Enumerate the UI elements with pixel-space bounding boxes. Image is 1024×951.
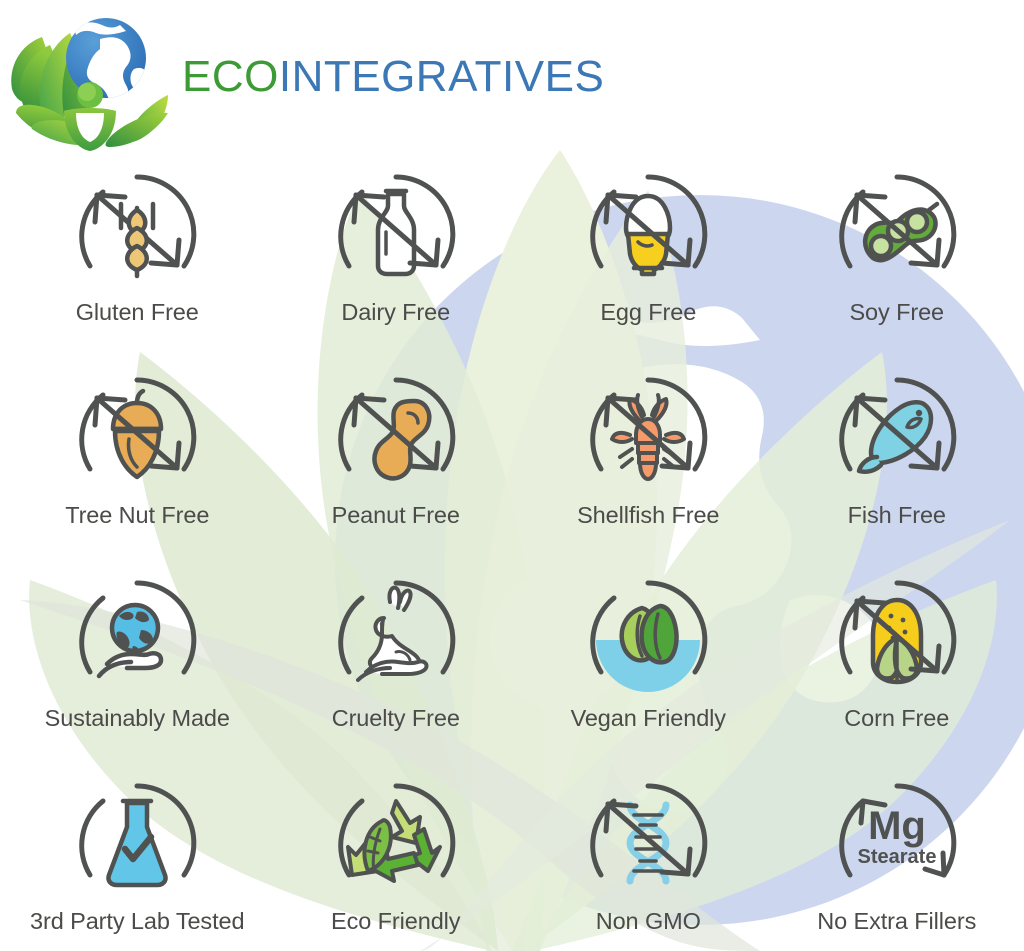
badge-row: Gluten Free bbox=[0, 170, 1024, 373]
mg-symbol-text: Mg bbox=[868, 804, 926, 848]
badge-gluten-free: Gluten Free bbox=[10, 170, 265, 373]
wheat-icon bbox=[73, 170, 201, 298]
badge-row: Sustainably Made bbox=[0, 576, 1024, 779]
brand-name-integratives: INTEGRATIVES bbox=[279, 55, 604, 99]
lobster-icon bbox=[584, 373, 712, 501]
badge-label: Soy Free bbox=[849, 300, 944, 325]
badge-egg-free: Egg Free bbox=[521, 170, 776, 373]
badge-tree-nut-free: Tree Nut Free bbox=[10, 373, 265, 576]
dna-helix-icon bbox=[584, 779, 712, 907]
badge-label: No Extra Fillers bbox=[817, 909, 976, 934]
badge-vegan-friendly: Vegan Friendly bbox=[521, 576, 776, 779]
peanut-icon bbox=[332, 373, 460, 501]
egg-cup-icon bbox=[584, 170, 712, 298]
badge-label: Vegan Friendly bbox=[571, 706, 726, 731]
badge-3rd-party-lab-tested: 3rd Party Lab Tested bbox=[10, 779, 265, 951]
badge-soy-free: Soy Free bbox=[770, 170, 1024, 373]
badge-label: Tree Nut Free bbox=[65, 503, 209, 528]
badge-cruelty-free: Cruelty Free bbox=[269, 576, 524, 779]
badge-label: Peanut Free bbox=[332, 503, 460, 528]
hand-holding-rabbit-icon bbox=[332, 576, 460, 704]
badge-label: Egg Free bbox=[600, 300, 696, 325]
badge-label: Gluten Free bbox=[76, 300, 199, 325]
stearate-text: Stearate bbox=[857, 846, 936, 868]
badge-label: Fish Free bbox=[848, 503, 946, 528]
badge-shellfish-free: Shellfish Free bbox=[521, 373, 776, 576]
badge-grid: Gluten Free bbox=[0, 170, 1024, 951]
badge-sustainably-made: Sustainably Made bbox=[10, 576, 265, 779]
badge-eco-friendly: Eco Friendly bbox=[269, 779, 524, 951]
leaves-in-bowl-icon bbox=[584, 576, 712, 704]
badge-non-gmo: Non GMO bbox=[521, 779, 776, 951]
badge-dairy-free: Dairy Free bbox=[269, 170, 524, 373]
eco-globe-leaf-logo-icon bbox=[8, 3, 168, 151]
mg-stearate-text-icon: Mg Stearate bbox=[833, 779, 961, 907]
badge-row: Tree Nut Free Peanut Fre bbox=[0, 373, 1024, 576]
badge-label: Corn Free bbox=[844, 706, 949, 731]
soy-pod-icon bbox=[833, 170, 961, 298]
badge-label: Cruelty Free bbox=[332, 706, 460, 731]
brand-wordmark: ECO INTEGRATIVES bbox=[182, 55, 604, 99]
lab-flask-check-icon bbox=[73, 779, 201, 907]
hand-holding-globe-icon bbox=[73, 576, 201, 704]
badge-label: Non GMO bbox=[596, 909, 701, 934]
badge-label: 3rd Party Lab Tested bbox=[30, 909, 244, 934]
badge-infographic: ECO INTEGRATIVES bbox=[0, 0, 1024, 951]
brand-name-eco: ECO bbox=[182, 55, 279, 99]
fish-icon bbox=[833, 373, 961, 501]
recycle-leaf-icon bbox=[332, 779, 460, 907]
badge-peanut-free: Peanut Free bbox=[269, 373, 524, 576]
badge-label: Shellfish Free bbox=[577, 503, 719, 528]
badge-row: 3rd Party Lab Tested bbox=[0, 779, 1024, 951]
badge-label: Eco Friendly bbox=[331, 909, 460, 934]
corn-cob-icon bbox=[833, 576, 961, 704]
milk-bottle-icon bbox=[332, 170, 460, 298]
badge-corn-free: Corn Free bbox=[770, 576, 1024, 779]
acorn-icon bbox=[73, 373, 201, 501]
badge-fish-free: Fish Free bbox=[770, 373, 1024, 576]
brand-logo: ECO INTEGRATIVES bbox=[8, 2, 608, 152]
badge-label: Sustainably Made bbox=[45, 706, 230, 731]
badge-label: Dairy Free bbox=[341, 300, 450, 325]
badge-no-extra-fillers: Mg Stearate No Extra Fillers bbox=[770, 779, 1024, 951]
